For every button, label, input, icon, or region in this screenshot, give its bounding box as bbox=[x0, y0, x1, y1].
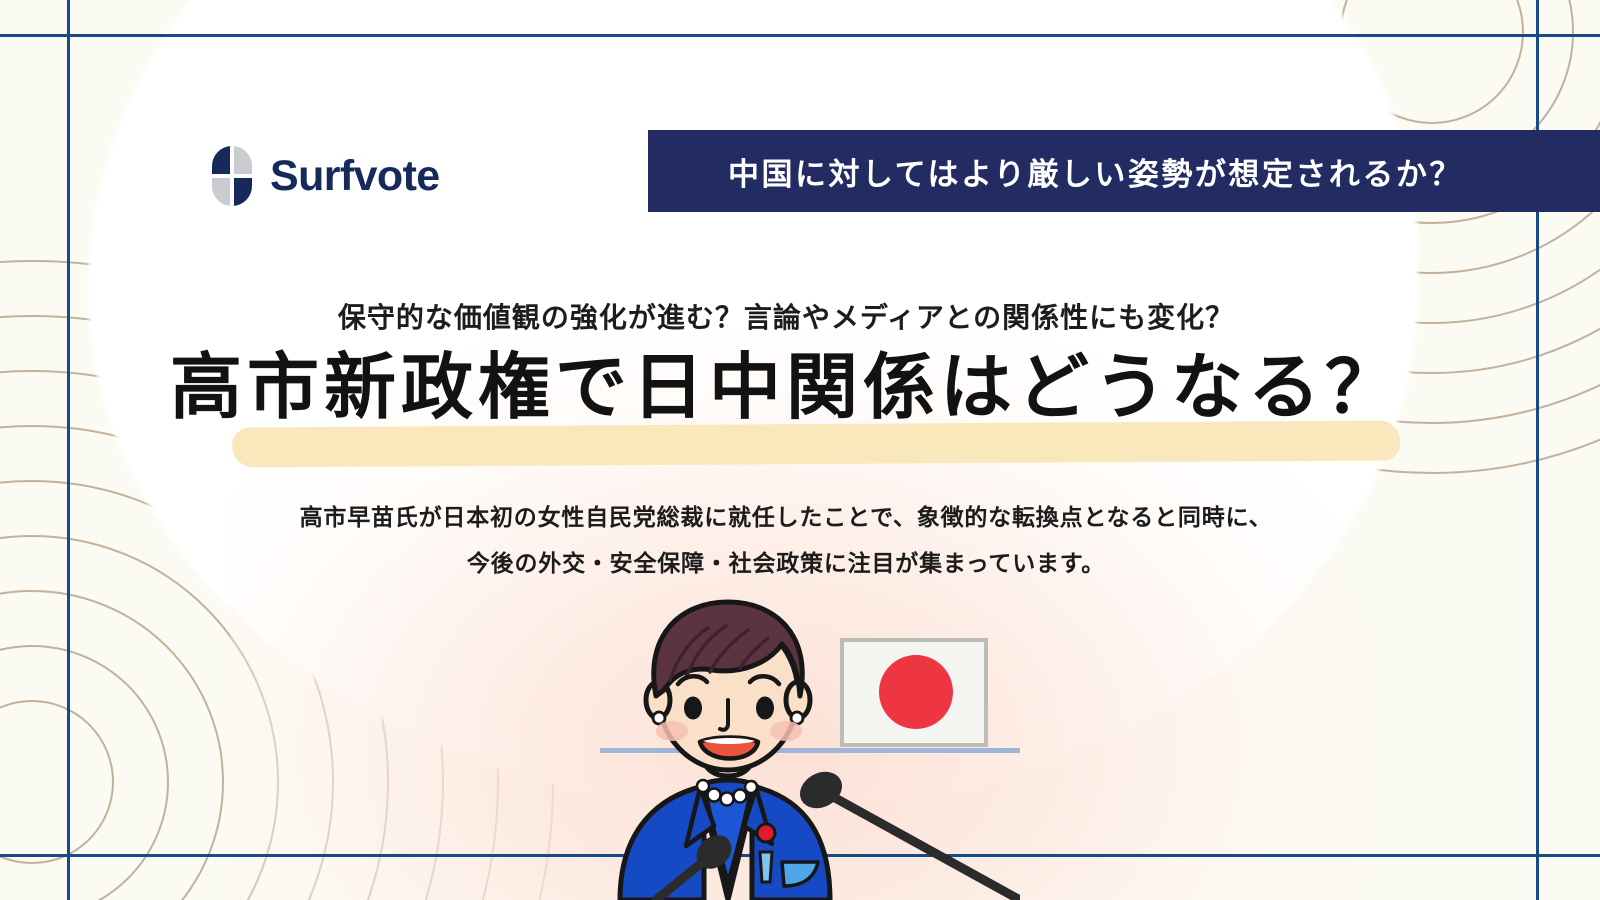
page-title: 高市新政権で日中関係はどうなる？ bbox=[0, 352, 1572, 424]
japan-flag-icon bbox=[842, 640, 986, 745]
banner-text: 中国に対してはより厳しい姿勢が想定されるか？ bbox=[648, 149, 1463, 194]
body-copy-line-1: 高市早苗氏が日本初の女性自民党総裁に就任したことで、象徴的な転換点となると同時に… bbox=[0, 494, 1572, 540]
backdrop-wall-line bbox=[600, 748, 1020, 753]
frame-line-left bbox=[67, 0, 70, 900]
politician-illustration bbox=[600, 590, 1020, 900]
surfvote-logo-mark-icon bbox=[212, 146, 252, 206]
headline-wrapper: 高市新政権で日中関係はどうなる？ bbox=[0, 352, 1572, 424]
brand-name: Surfvote bbox=[270, 152, 440, 201]
body-copy: 高市早苗氏が日本初の女性自民党総裁に就任したことで、象徴的な転換点となると同時に… bbox=[0, 494, 1572, 586]
headline-banner: 中国に対してはより厳しい姿勢が想定されるか？ bbox=[648, 130, 1600, 212]
brand-logo[interactable]: Surfvote bbox=[212, 146, 440, 206]
frame-line-top bbox=[0, 34, 1600, 37]
kicker-text: 保守的な価値観の強化が進む？言論やメディアとの関係性にも変化？ bbox=[0, 296, 1572, 336]
body-copy-line-2: 今後の外交・安全保障・社会政策に注目が集まっています。 bbox=[0, 540, 1572, 586]
poster-canvas: Surfvote 中国に対してはより厳しい姿勢が想定されるか？ 保守的な価値観の… bbox=[0, 0, 1600, 900]
